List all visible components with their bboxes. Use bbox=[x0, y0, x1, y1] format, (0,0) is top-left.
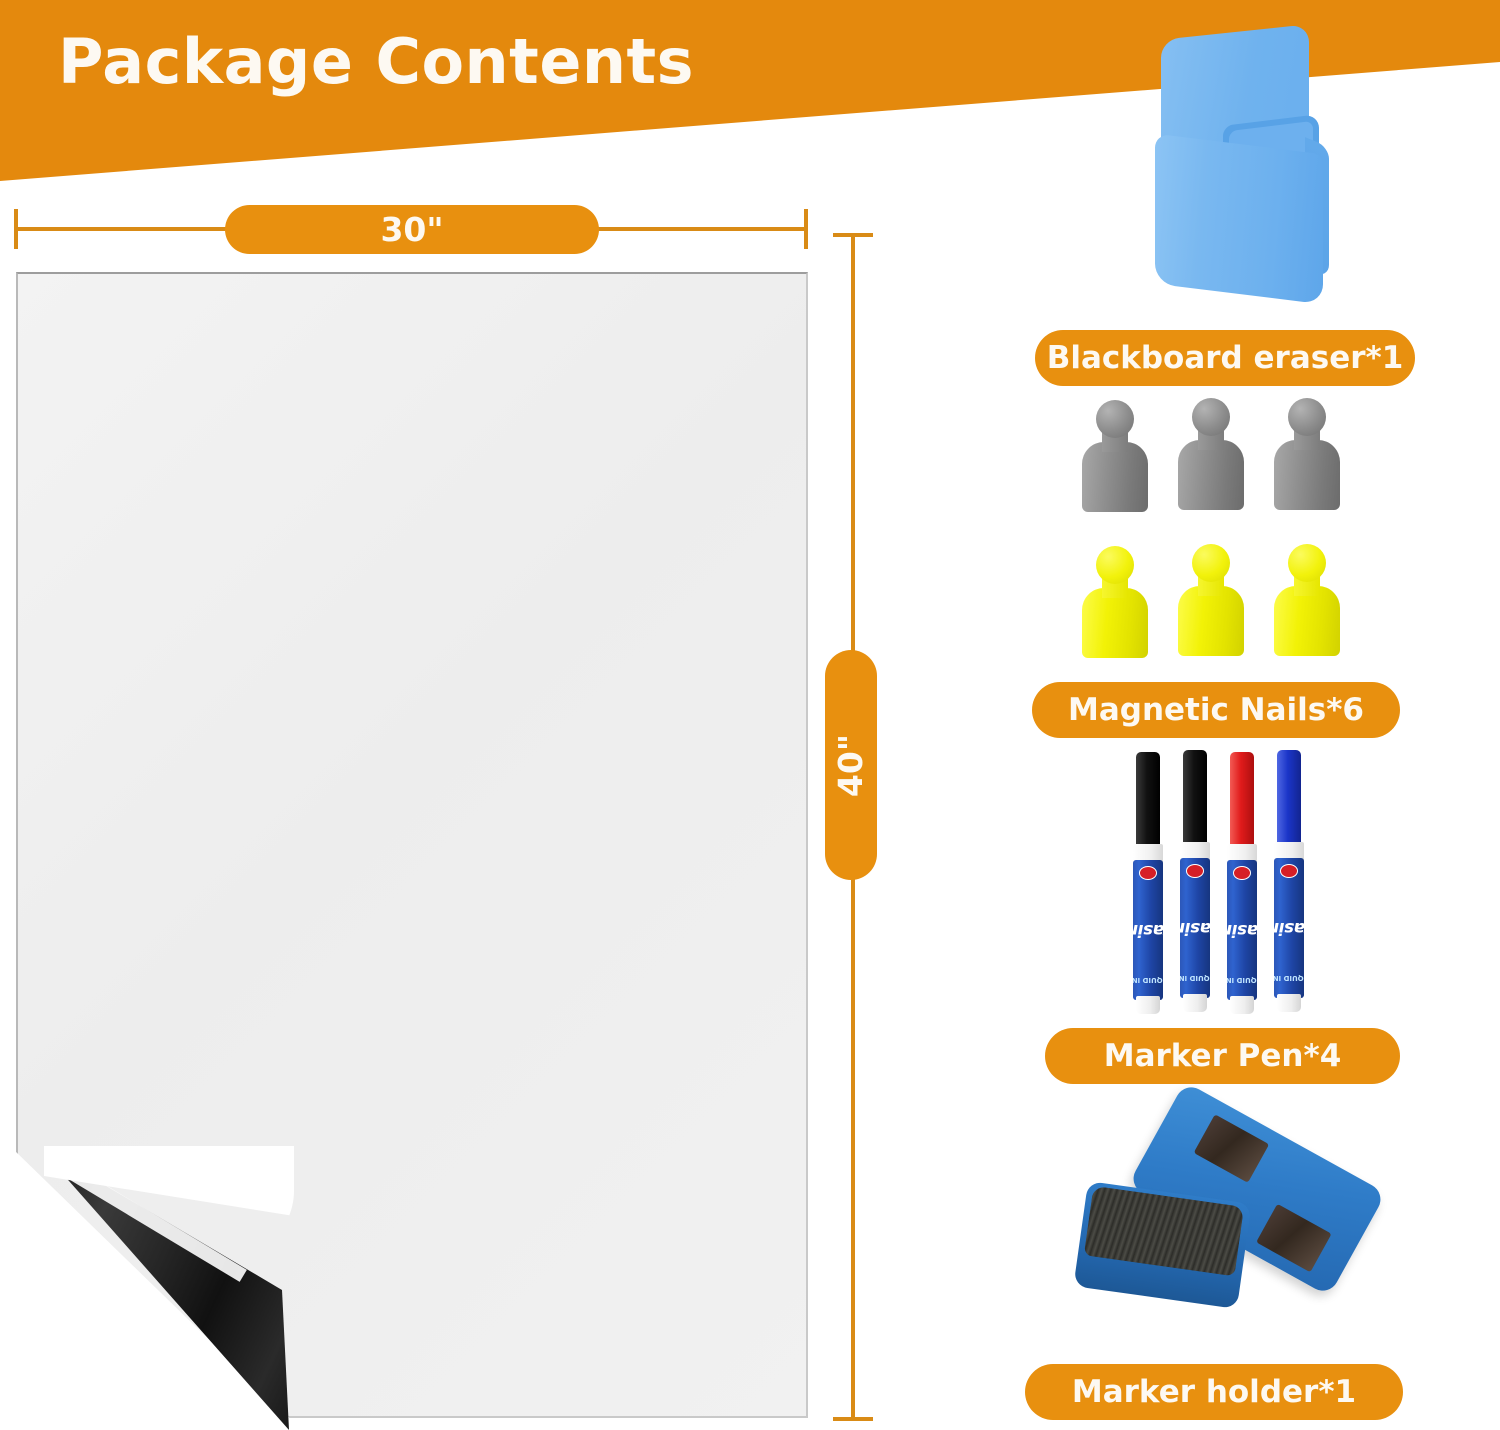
magnetic-nail-gray-1 bbox=[1082, 400, 1148, 512]
pen-cap bbox=[1230, 752, 1254, 848]
nail-head bbox=[1288, 544, 1326, 582]
pen-brand-text: Erasing bbox=[1133, 920, 1163, 940]
eraser-magnet-strip bbox=[1194, 1114, 1270, 1183]
pen-subtitle-text: LIQUID INK bbox=[1274, 974, 1304, 982]
label-magnetic-nails: Magnetic Nails*6 bbox=[1032, 682, 1400, 738]
height-dimension-cap-top bbox=[833, 233, 873, 237]
nail-body bbox=[1082, 442, 1148, 512]
nail-body bbox=[1082, 588, 1148, 658]
accessories-column: Blackboard eraser*1 bbox=[1000, 0, 1500, 1430]
pen-barrel: Erasing LIQUID INK bbox=[1274, 858, 1304, 998]
magnetic-nail-gray-3 bbox=[1274, 398, 1340, 510]
package-contents-infographic: Package Contents 30" 40" Blac bbox=[0, 0, 1500, 1430]
magnetic-nail-gray-2 bbox=[1178, 398, 1244, 510]
label-marker-pen: Marker Pen*4 bbox=[1045, 1028, 1400, 1084]
pen-subtitle-text: LIQUID INK bbox=[1180, 974, 1210, 982]
marker-pen-red: Erasing LIQUID INK bbox=[1227, 752, 1257, 1014]
nail-head bbox=[1288, 398, 1326, 436]
pen-tail bbox=[1183, 994, 1207, 1012]
marker-pen-blue: Erasing LIQUID INK bbox=[1274, 750, 1304, 1012]
pen-tail bbox=[1277, 994, 1301, 1012]
nail-body bbox=[1274, 586, 1340, 656]
eraser-felt-view bbox=[1073, 1181, 1251, 1309]
magnetic-nail-yellow-2 bbox=[1178, 544, 1244, 656]
pen-barrel: Erasing LIQUID INK bbox=[1133, 860, 1163, 1000]
magnetic-nail-yellow-1 bbox=[1082, 546, 1148, 658]
label-blackboard-eraser: Blackboard eraser*1 bbox=[1035, 330, 1415, 386]
pen-badge-icon bbox=[1186, 864, 1204, 878]
pen-tail bbox=[1136, 996, 1160, 1014]
marker-holder-image bbox=[1155, 32, 1335, 294]
width-dimension-cap-right bbox=[804, 209, 808, 249]
width-dimension-label: 30" bbox=[225, 205, 599, 254]
label-marker-holder: Marker holder*1 bbox=[1025, 1364, 1403, 1420]
nail-head bbox=[1192, 398, 1230, 436]
pen-badge-icon bbox=[1233, 866, 1251, 880]
height-dimension-cap-bottom bbox=[833, 1417, 873, 1421]
eraser-magnet-strip bbox=[1256, 1204, 1332, 1273]
pen-cap bbox=[1136, 752, 1160, 848]
nail-head bbox=[1096, 546, 1134, 584]
nail-body bbox=[1178, 440, 1244, 510]
pen-brand-text: Erasing bbox=[1180, 918, 1210, 938]
pen-cap bbox=[1277, 750, 1301, 846]
pen-badge-icon bbox=[1139, 866, 1157, 880]
holder-front-panel bbox=[1155, 134, 1323, 305]
peeled-corner bbox=[14, 1150, 304, 1430]
pen-subtitle-text: LIQUID INK bbox=[1133, 976, 1163, 984]
marker-pen-black-1: Erasing LIQUID INK bbox=[1133, 752, 1163, 1014]
pen-cap bbox=[1183, 750, 1207, 846]
nail-body bbox=[1274, 440, 1340, 510]
pen-subtitle-text: LIQUID INK bbox=[1227, 976, 1257, 984]
pen-brand-text: Erasing bbox=[1227, 920, 1257, 940]
pen-badge-icon bbox=[1280, 864, 1298, 878]
pen-brand-text: Erasing bbox=[1274, 918, 1304, 938]
magnetic-nail-yellow-3 bbox=[1274, 544, 1340, 656]
eraser-felt-pad bbox=[1084, 1186, 1244, 1276]
nail-body bbox=[1178, 586, 1244, 656]
pen-barrel: Erasing LIQUID INK bbox=[1227, 860, 1257, 1000]
width-dimension-cap-left bbox=[14, 209, 18, 249]
pen-barrel: Erasing LIQUID INK bbox=[1180, 858, 1210, 998]
marker-pen-black-2: Erasing LIQUID INK bbox=[1180, 750, 1210, 1012]
eraser-images bbox=[1080, 1130, 1410, 1340]
height-dimension-label: 40" bbox=[825, 650, 877, 880]
height-dimension-label-text: 40" bbox=[832, 733, 871, 796]
pen-tail bbox=[1230, 996, 1254, 1014]
page-title: Package Contents bbox=[58, 28, 694, 96]
nail-head bbox=[1192, 544, 1230, 582]
nail-head bbox=[1096, 400, 1134, 438]
